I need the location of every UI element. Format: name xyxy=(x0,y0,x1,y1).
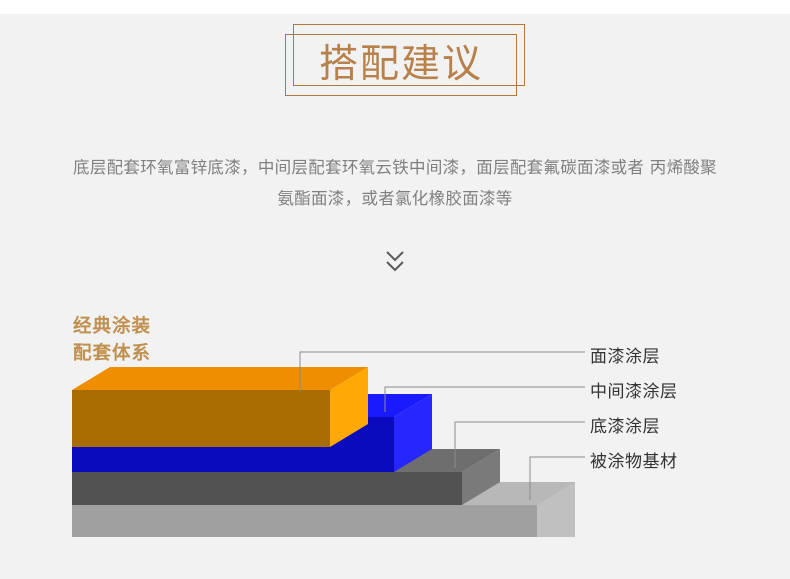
primer-front-face xyxy=(72,472,462,505)
page-root: 搭配建议 底层配套环氧富锌底漆，中间层配套环氧云铁中间漆，面层配套氟碳面漆或者 … xyxy=(0,0,790,579)
layer-label-substrate: 被涂物基材 xyxy=(590,447,678,472)
topcoat-top-face xyxy=(72,367,368,390)
layer-label-primer: 底漆涂层 xyxy=(590,412,660,437)
coating-layers-diagram xyxy=(0,0,790,579)
layer-label-midcoat: 中间漆涂层 xyxy=(590,377,678,402)
layer-shape-topcoat xyxy=(72,367,368,447)
layer-label-topcoat: 面漆涂层 xyxy=(590,342,660,367)
topcoat-front-face xyxy=(72,390,330,447)
substrate-front-face xyxy=(72,505,575,537)
